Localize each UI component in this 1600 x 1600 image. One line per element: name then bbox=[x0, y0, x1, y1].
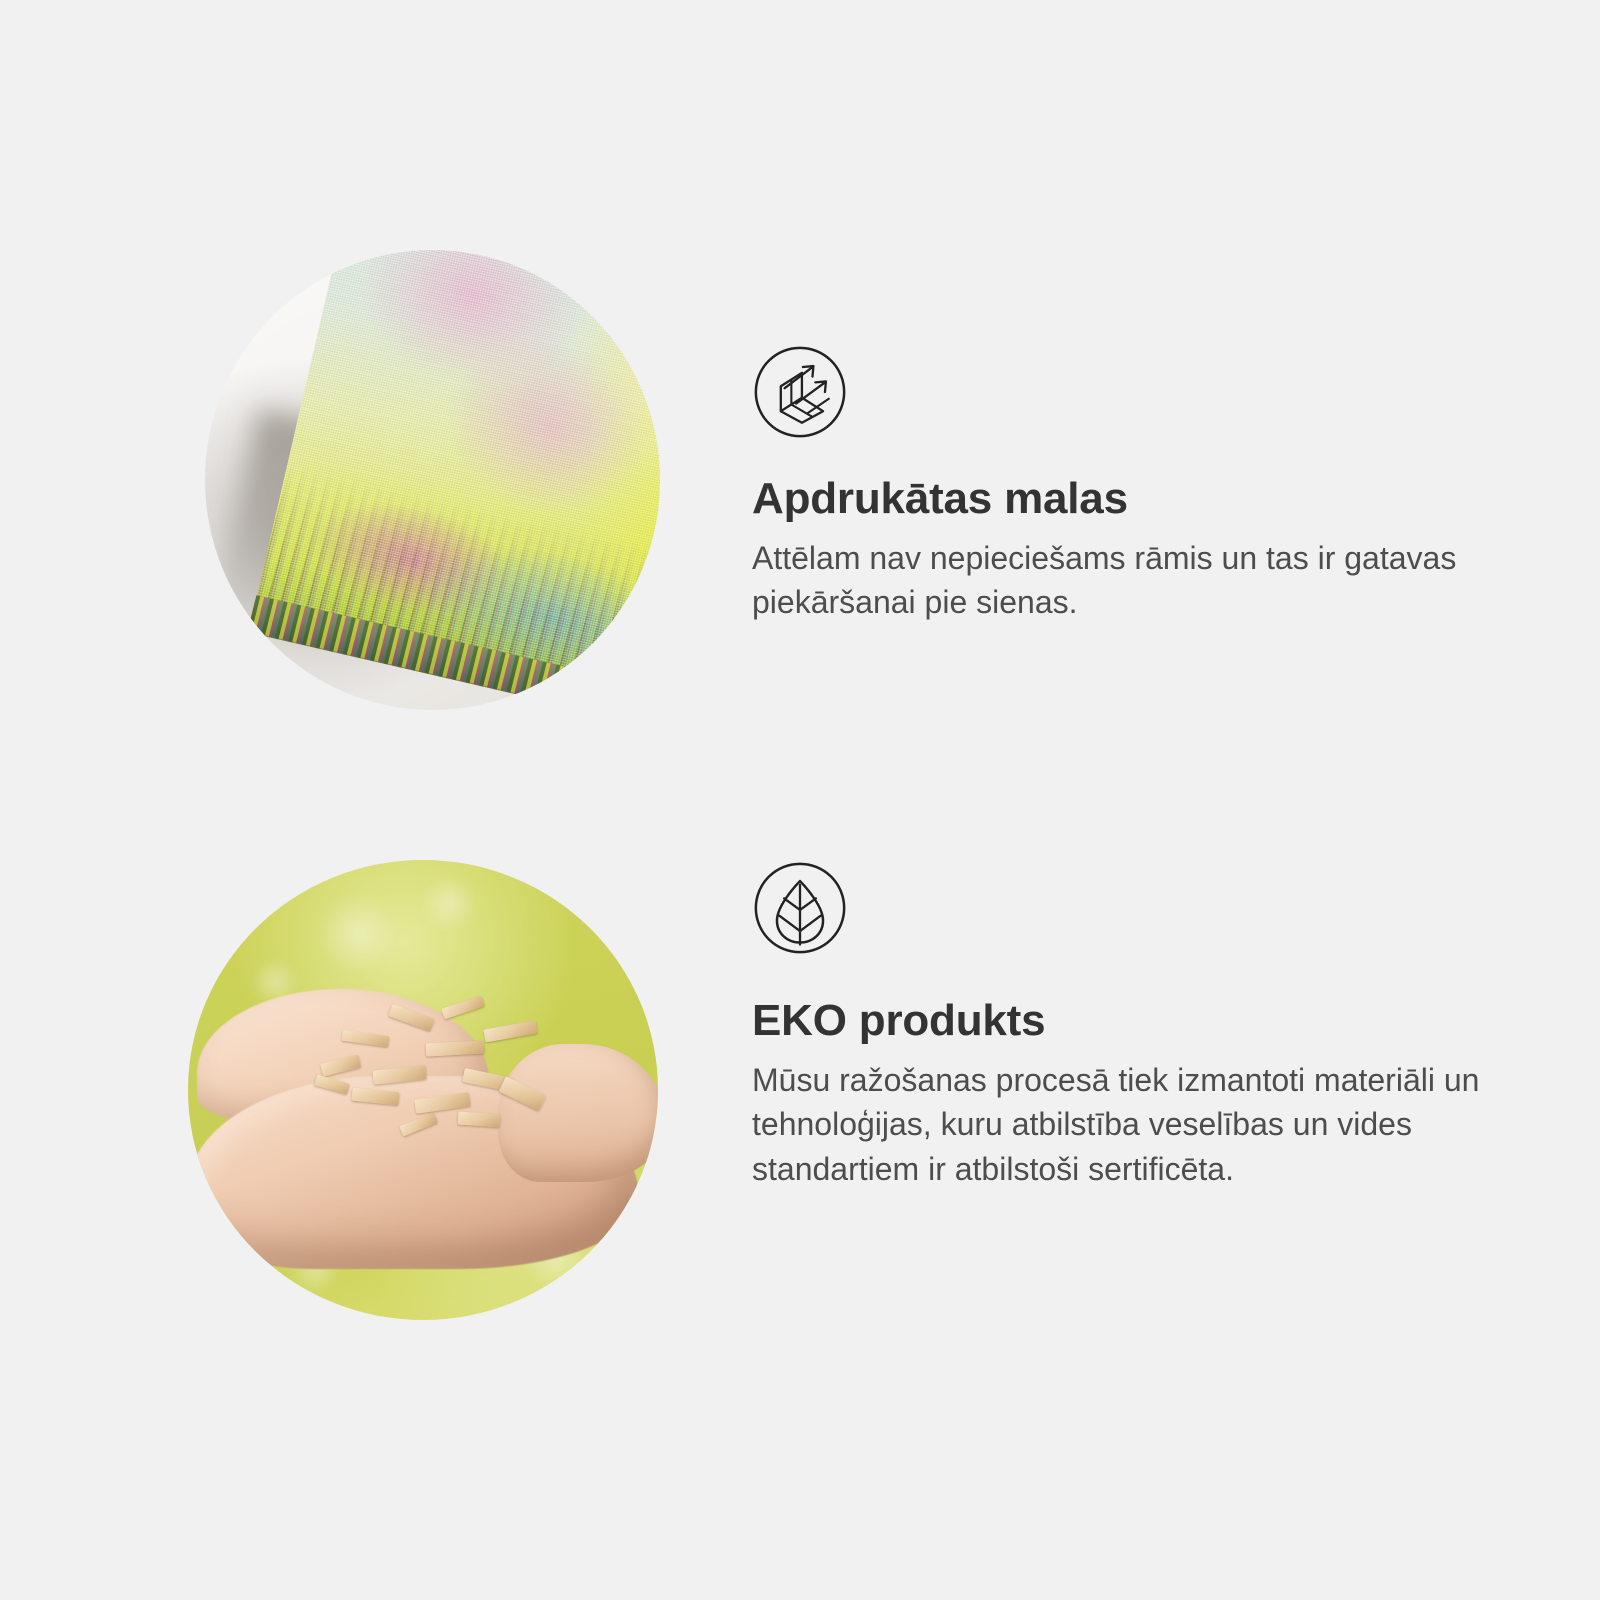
leaf-icon bbox=[752, 860, 848, 956]
feature-image-printed-edges bbox=[205, 250, 660, 710]
bokeh-highlight bbox=[423, 878, 475, 929]
wood-chip bbox=[441, 996, 485, 1020]
circular-image-mask bbox=[205, 250, 660, 710]
wood-chip bbox=[341, 1030, 389, 1048]
wood-chip bbox=[483, 1020, 537, 1042]
wood-chip bbox=[373, 1065, 427, 1085]
canvas-block bbox=[256, 250, 660, 708]
feature-title: EKO produkts bbox=[752, 998, 1492, 1044]
wood-chip bbox=[352, 1088, 400, 1106]
canvas-print-wrapped-edge-photo bbox=[205, 250, 660, 710]
feature-block-printed-edges: Apdrukātas malas Attēlam nav nepieciešam… bbox=[0, 250, 1600, 730]
bokeh-highlight bbox=[320, 897, 395, 971]
feature-image-eco-product bbox=[188, 860, 658, 1320]
feature-block-eco-product: EKO produkts Mūsu ražošanas procesā tiek… bbox=[0, 860, 1600, 1340]
wood-chip bbox=[388, 1003, 434, 1030]
wood-chip bbox=[320, 1054, 361, 1076]
wood-chip bbox=[498, 1076, 546, 1111]
wood-chip bbox=[315, 1074, 351, 1094]
feature-description: Mūsu ražošanas procesā tiek izmantoti ma… bbox=[752, 1058, 1482, 1190]
feature-text-printed-edges: Apdrukātas malas Attēlam nav nepieciešam… bbox=[752, 250, 1492, 625]
circular-image-mask bbox=[188, 860, 658, 1320]
wood-chip bbox=[426, 1040, 484, 1056]
printed-edges-icon bbox=[752, 344, 848, 440]
wood-chips-pile bbox=[310, 993, 573, 1136]
feature-description: Attēlam nav nepieciešams rāmis un tas ir… bbox=[752, 536, 1482, 624]
features-page: Apdrukātas malas Attēlam nav nepieciešam… bbox=[0, 0, 1600, 1600]
feature-text-eco-product: EKO produkts Mūsu ražošanas procesā tiek… bbox=[752, 860, 1492, 1191]
hands-holding-wood-chips-photo bbox=[188, 860, 658, 1320]
wood-chip bbox=[415, 1092, 472, 1114]
wood-chip bbox=[399, 1112, 437, 1136]
wood-chip bbox=[457, 1112, 500, 1128]
feature-title: Apdrukātas malas bbox=[752, 476, 1492, 522]
